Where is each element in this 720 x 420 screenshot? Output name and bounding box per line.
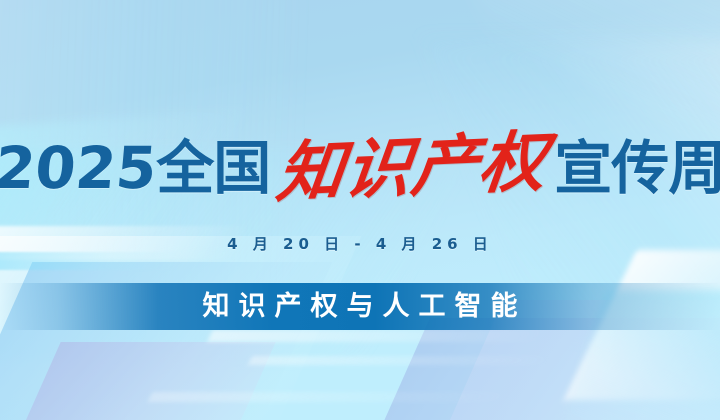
banner-date-range: 4 月 20 日 - 4 月 26 日 xyxy=(0,230,720,256)
title-prefix: 全国 xyxy=(156,139,270,197)
title-year: 2025 xyxy=(0,139,159,197)
title-suffix: 宣传周 xyxy=(554,139,720,197)
ip-week-banner: 2025 全国 知识产权 宣传周 4 月 20 日 - 4 月 26 日 知识产… xyxy=(0,0,720,420)
banner-subtitle-bar: 知识产权与人工智能 xyxy=(0,283,720,330)
subtitle-text: 知识产权与人工智能 xyxy=(194,293,527,320)
date-range-text: 4 月 20 日 - 4 月 26 日 xyxy=(227,233,493,254)
banner-title: 2025 全国 知识产权 宣传周 xyxy=(0,126,720,210)
title-highlight-calligraphy: 知识产权 xyxy=(268,129,557,207)
